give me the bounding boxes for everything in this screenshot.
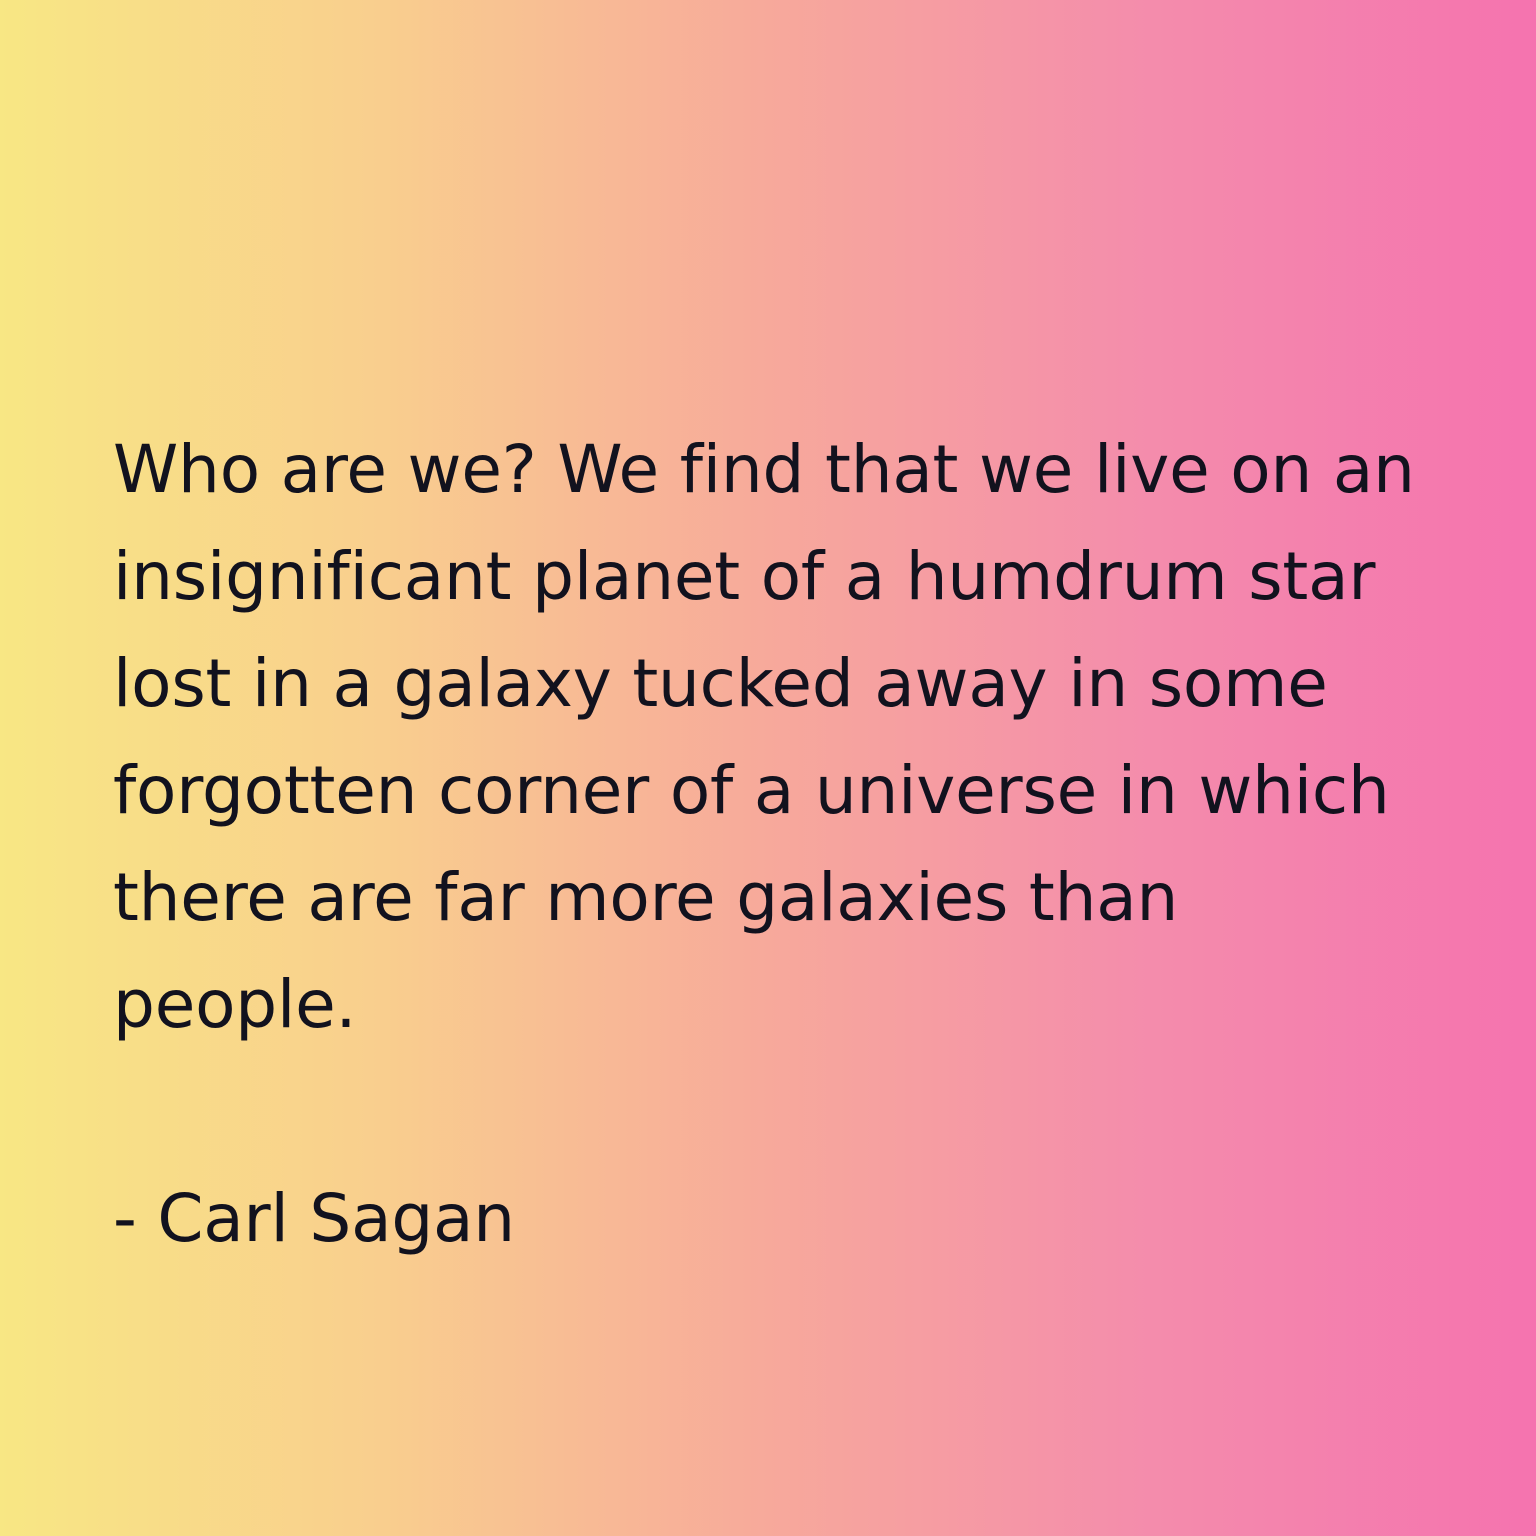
quote-text: Who are we? We find that we live on an i… xyxy=(113,416,1433,1272)
quote-card: Who are we? We find that we live on an i… xyxy=(0,0,1536,1536)
